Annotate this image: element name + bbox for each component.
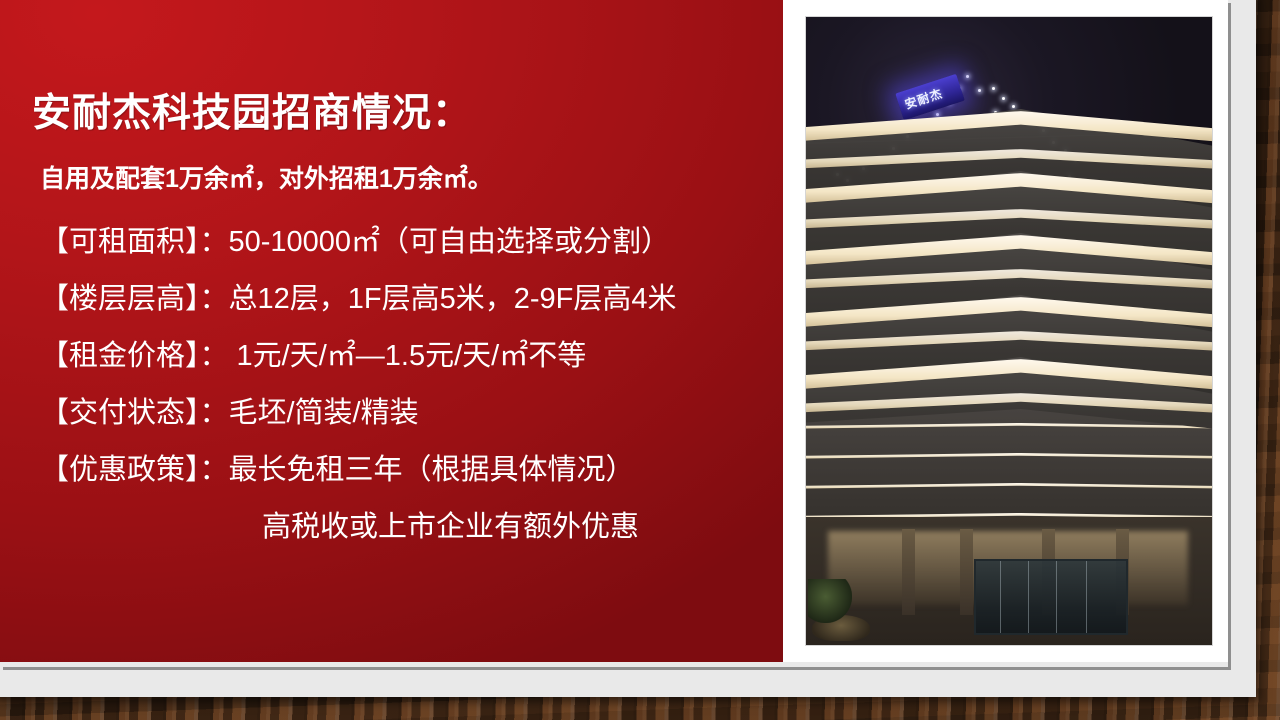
list-item: 【优惠政策】：最长免租三年（根据具体情况） (40, 442, 800, 499)
lobby-glass-door (974, 559, 1128, 635)
roof-light-dot (978, 89, 981, 92)
list-item: 高税收或上市企业有额外优惠 (40, 499, 800, 556)
slide-sheet: 安耐杰科技园招商情况： 自用及配套1万余㎡，对外招租1万余㎡。 【可租面积】：5… (0, 0, 1256, 697)
list-item: 【可租面积】：50-10000㎡（可自由选择或分割） (40, 214, 800, 271)
slide-subtitle: 自用及配套1万余㎡，对外招租1万余㎡。 (40, 159, 493, 195)
list-item: 【楼层层高】：总12层，1F层高5米，2-9F层高4米 (40, 271, 800, 328)
building-lobby (806, 517, 1212, 645)
building-night-photo: 安耐杰 (806, 17, 1212, 645)
facade-light-band (806, 483, 1212, 489)
bullet-list: 【可租面积】：50-10000㎡（可自由选择或分割） 【楼层层高】：总12层，1… (40, 214, 800, 556)
facade-light-band (806, 453, 1212, 459)
roof-light-dot (1012, 105, 1015, 108)
lobby-pier (902, 529, 915, 615)
page-title: 安耐杰科技园招商情况： (32, 82, 472, 138)
roof-light-dot (992, 87, 995, 90)
photo-frame: 安耐杰 (783, 0, 1228, 662)
list-item: 【租金价格】： 1元/天/㎡—1.5元/天/㎡不等 (40, 328, 800, 385)
roof-light-dot (1002, 97, 1005, 100)
desktop-background: 安耐杰科技园招商情况： 自用及配套1万余㎡，对外招租1万余㎡。 【可租面积】：5… (0, 0, 1280, 720)
entrance-shrub (808, 579, 852, 623)
slide-canvas: 安耐杰科技园招商情况： 自用及配套1万余㎡，对外招租1万余㎡。 【可租面积】：5… (0, 0, 1228, 662)
facade-light-band (806, 423, 1212, 429)
roof-light-dot (966, 75, 969, 78)
lobby-pier (960, 529, 973, 615)
list-item: 【交付状态】：毛坯/简装/精装 (40, 385, 800, 442)
